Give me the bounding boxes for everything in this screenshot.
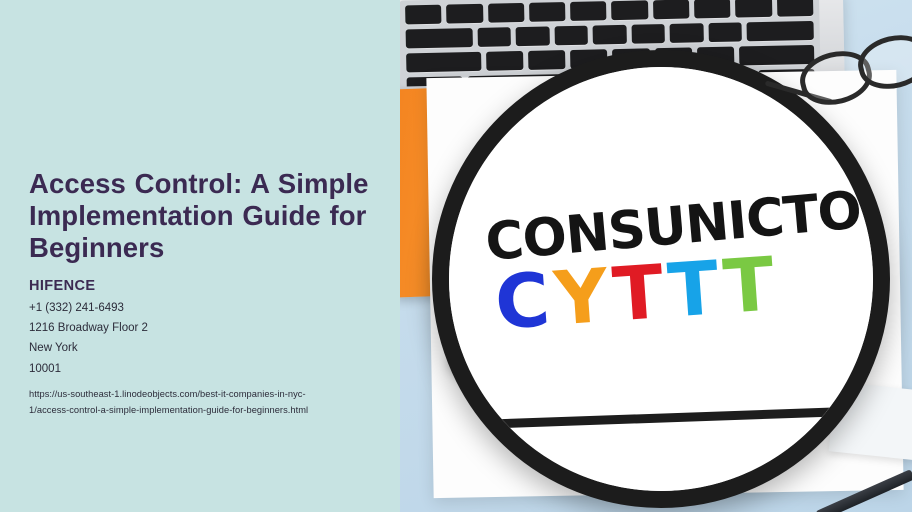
key [631, 24, 665, 44]
key [570, 1, 607, 21]
lens-letter: T [721, 247, 777, 324]
key [516, 26, 550, 46]
key [708, 22, 742, 42]
lens-letter: Y [552, 259, 611, 337]
address-line-2: New York [29, 341, 374, 355]
key [405, 5, 442, 25]
lens-content: CONSUNICTON C Y T T T [449, 67, 873, 491]
source-url[interactable]: https://us-southeast-1.linodeobjects.com… [29, 386, 374, 419]
lens-letter: C [493, 263, 552, 341]
key [612, 0, 649, 20]
address-line-1: 1216 Broadway Floor 2 [29, 321, 374, 335]
source-url-line-1: https://us-southeast-1.linodeobjects.com… [29, 386, 374, 402]
key [694, 0, 731, 18]
eyeglasses [798, 34, 912, 112]
lens-letter: T [610, 255, 666, 332]
key [477, 27, 511, 47]
key [735, 0, 772, 18]
key [554, 26, 588, 46]
lens-black-bar [457, 405, 890, 429]
key [670, 23, 704, 43]
lens-letter: T [666, 251, 722, 328]
source-url-line-2: 1/access-control-a-simple-implementation… [29, 402, 374, 418]
key [488, 3, 525, 23]
lens-colored-letters: C Y T T T [493, 247, 777, 340]
photo-panel: CONSUNICTON C Y T T T [400, 0, 912, 512]
text-block: Access Control: A Simple Implementation … [29, 168, 374, 419]
key [406, 28, 473, 48]
page-title: Access Control: A Simple Implementation … [29, 168, 374, 264]
key [446, 4, 483, 24]
magnifying-glass-over-document-photo: CONSUNICTON C Y T T T [400, 0, 912, 512]
slide-root: Access Control: A Simple Implementation … [0, 0, 912, 512]
magnifier-lens: CONSUNICTON C Y T T T [432, 50, 890, 508]
key [529, 2, 566, 22]
key [593, 25, 627, 45]
postal-code: 10001 [29, 362, 374, 376]
key [777, 0, 814, 17]
key [653, 0, 690, 19]
magnifying-glass: CONSUNICTON C Y T T T [432, 50, 894, 508]
company-name: HIFENCE [29, 278, 374, 294]
phone-number: +1 (332) 241-6493 [29, 301, 374, 315]
key-row [400, 21, 820, 49]
left-text-panel: Access Control: A Simple Implementation … [0, 0, 400, 512]
key-row [400, 0, 819, 25]
